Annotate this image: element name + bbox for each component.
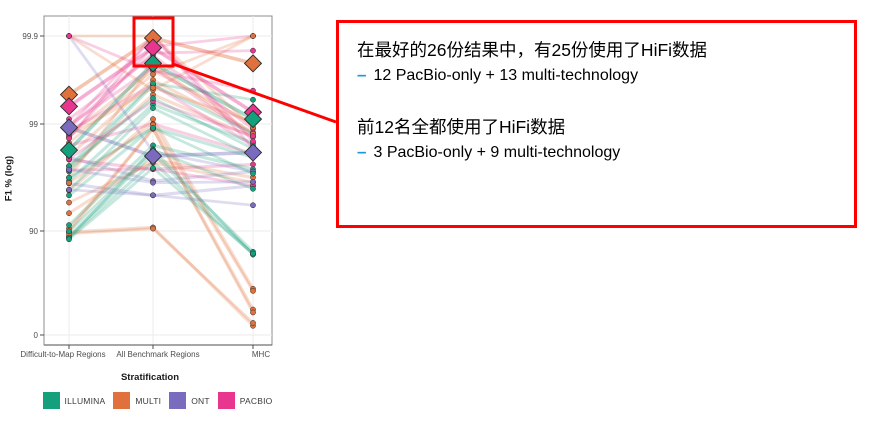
- legend-swatch-icon: [113, 392, 130, 409]
- callout-bullet-row-2: – 3 PacBio-only + 9 multi-technology: [357, 141, 836, 165]
- callout-box: 在最好的26份结果中，有25份使用了HiFi数据 – 12 PacBio-onl…: [336, 20, 857, 228]
- legend-item-illumina[interactable]: ILLUMINA: [43, 392, 106, 409]
- legend-label: ONT: [191, 396, 210, 406]
- data-point: [250, 97, 255, 102]
- legend-item-pacbio[interactable]: PACBIO: [218, 392, 273, 409]
- data-point: [66, 167, 71, 172]
- callout-block-1: 在最好的26份结果中，有25份使用了HiFi数据 – 12 PacBio-onl…: [357, 37, 836, 88]
- x-tick-label-difficult-to-map-regions: Difficult-to-Map Regions: [8, 350, 118, 360]
- x-tick-label-mhc: MHC: [226, 350, 296, 360]
- data-point: [150, 105, 155, 110]
- data-point: [150, 226, 155, 231]
- callout-heading-1: 在最好的26份结果中，有25份使用了HiFi数据: [357, 37, 836, 64]
- data-point: [250, 162, 255, 167]
- data-point: [150, 96, 155, 101]
- y-tick-label-99: 99: [6, 120, 38, 129]
- legend-swatch-icon: [218, 392, 235, 409]
- x-tick-label-all-benchmark-regions: All Benchmark Regions: [103, 350, 213, 360]
- data-point: [250, 310, 255, 315]
- data-point: [66, 193, 71, 198]
- data-point: [66, 211, 71, 216]
- data-point: [150, 165, 155, 170]
- callout-bullet-text-2: 3 PacBio-only + 9 multi-technology: [373, 141, 620, 165]
- chart-area: 99.9 99 90 0 Difficult-to-Map Regions Al…: [0, 0, 300, 423]
- data-point: [250, 171, 255, 176]
- data-point: [250, 48, 255, 53]
- data-point: [150, 193, 155, 198]
- callout-heading-2: 前12名全都使用了HiFi数据: [357, 114, 836, 141]
- legend-label: MULTI: [135, 396, 161, 406]
- data-point: [150, 180, 155, 185]
- y-tick-label-99-9: 99.9: [6, 32, 38, 41]
- legend-label: ILLUMINA: [65, 396, 106, 406]
- y-axis-title: F1 % (log): [4, 139, 15, 219]
- data-point: [66, 187, 71, 192]
- callout-bullet-text-1: 12 PacBio-only + 13 multi-technology: [373, 64, 638, 88]
- data-point: [250, 288, 255, 293]
- data-point: [150, 117, 155, 122]
- data-point: [150, 85, 155, 90]
- callout-block-2: 前12名全都使用了HiFi数据 – 3 PacBio-only + 9 mult…: [357, 114, 836, 165]
- legend-swatch-icon: [169, 392, 186, 409]
- data-point: [66, 229, 71, 234]
- data-point: [66, 222, 71, 227]
- callout-bullet-row-1: – 12 PacBio-only + 13 multi-technology: [357, 64, 836, 88]
- data-point: [250, 134, 255, 139]
- legend-label: PACBIO: [240, 396, 273, 406]
- data-point: [150, 125, 155, 130]
- data-point: [66, 33, 71, 38]
- legend: ILLUMINAMULTIONTPACBIO: [40, 392, 275, 409]
- data-point: [250, 320, 255, 325]
- y-tick-label-90: 90: [6, 227, 38, 236]
- legend-swatch-icon: [43, 392, 60, 409]
- callout-spacer: [357, 92, 836, 114]
- y-tick-label-0: 0: [6, 331, 38, 340]
- legend-item-multi[interactable]: MULTI: [113, 392, 161, 409]
- data-point: [66, 180, 71, 185]
- dash-bullet-icon: –: [357, 66, 366, 83]
- data-point: [250, 186, 255, 191]
- data-point: [250, 88, 255, 93]
- data-point: [250, 139, 255, 144]
- data-point: [250, 251, 255, 256]
- dash-bullet-icon: –: [357, 143, 366, 160]
- x-axis-title: Stratification: [0, 372, 300, 383]
- data-point: [250, 33, 255, 38]
- data-point: [66, 200, 71, 205]
- data-point: [250, 179, 255, 184]
- data-point: [250, 203, 255, 208]
- legend-item-ont[interactable]: ONT: [169, 392, 210, 409]
- data-point: [66, 175, 71, 180]
- data-point: [66, 237, 71, 242]
